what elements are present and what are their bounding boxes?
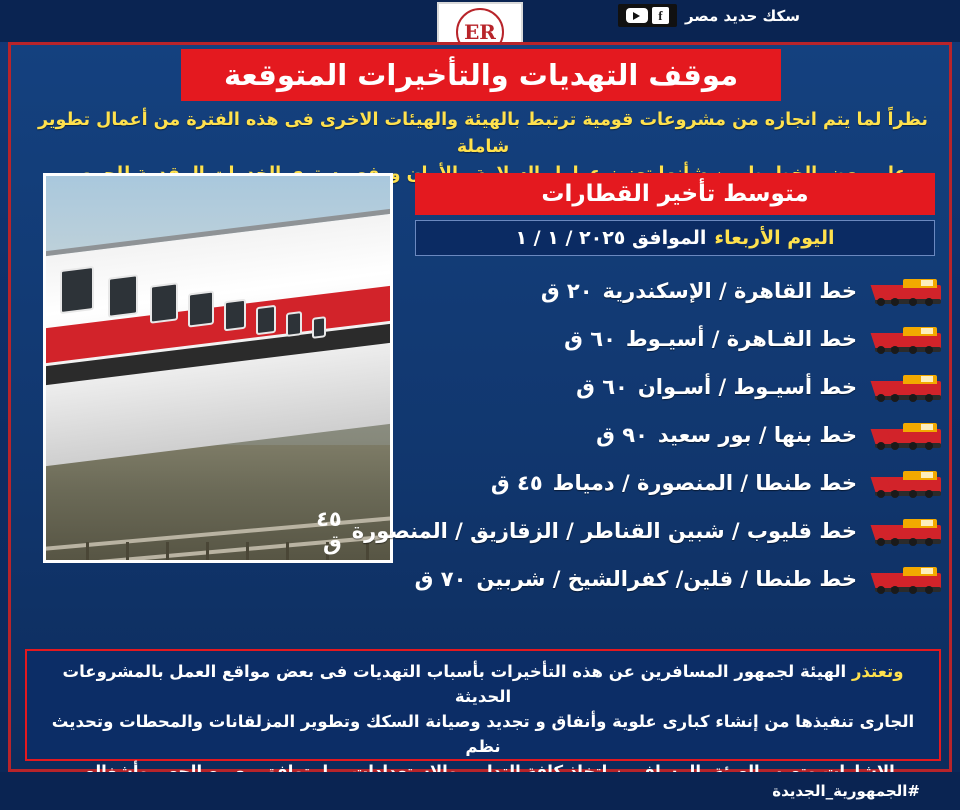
delay-line-row: خط قليوب / شبين القناطر / الزقازيق / الم… [407,507,943,555]
delay-line-name: خط أسيـوط / أسـوان [638,375,857,399]
delay-line-name: خط طنطا / قلين/ كفرالشيخ / شربين [476,567,857,591]
delay-line-name: خط القاهرة / الإسكندرية [603,279,857,303]
delay-line-value: ٧٠ ق [415,567,467,591]
train-photo [43,173,393,563]
date-band: اليوم الأربعاء الموافق ٢٠٢٥ / ١ / ١ [415,220,935,256]
date-value: الموافق ٢٠٢٥ / ١ / ١ [515,227,706,249]
locomotive-icon [867,516,941,546]
delay-line-row: خط أسيـوط / أسـوان٦٠ ق [407,363,943,411]
delay-line-value: ٤٥ ق [491,471,543,495]
delay-line-row: خط بنها / بور سعيد٩٠ ق [407,411,943,459]
note-line-1-rest: الهيئة لجمهور المسافرين عن هذه التأخيرات… [63,662,852,706]
note-line-1: وتعتذر الهيئة لجمهور المسافرين عن هذه ال… [41,659,925,709]
delay-line-row: خط طنطا / قلين/ كفرالشيخ / شربين٧٠ ق [407,555,943,603]
apology-note: وتعتذر الهيئة لجمهور المسافرين عن هذه ال… [25,649,941,761]
delay-line-row: خط القـاهرة / أسيـوط٦٠ ق [407,315,943,363]
delay-line-value: ٢٠ ق [541,279,593,303]
content-frame: موقف التهديات والتأخيرات المتوقعة نظراً … [8,42,952,772]
locomotive-icon [867,324,941,354]
footer-bar: #الجمهورية_الجديدة [0,772,960,810]
delay-line-value: ٤٥ ق [316,507,342,555]
brand-name: سكك حديد مصر [685,7,800,25]
footer-hashtag: #الجمهورية_الجديدة [772,782,920,800]
date-day: اليوم الأربعاء [714,227,834,249]
delay-line-row: خط القاهرة / الإسكندرية٢٠ ق [407,267,943,315]
delay-line-row: خط طنطا / المنصورة / دمياط٤٥ ق [407,459,943,507]
page-title: موقف التهديات والتأخيرات المتوقعة [224,58,738,92]
average-delay-label: متوسط تأخير القطارات [541,181,808,207]
youtube-icon[interactable] [626,8,648,23]
title-band: موقف التهديات والتأخيرات المتوقعة [181,49,781,101]
poster-root: سكك حديد مصر f ER EGYPTIAN RAILWAYS المر… [0,0,960,810]
delay-line-value: ٩٠ ق [596,423,648,447]
delay-line-name: خط القـاهرة / أسيـوط [626,327,857,351]
delay-line-value: ٦٠ ق [576,375,628,399]
locomotive-icon [867,372,941,402]
delay-lines-list: خط القاهرة / الإسكندرية٢٠ قخط القـاهرة /… [407,267,943,603]
delay-line-name: خط بنها / بور سعيد [658,423,857,447]
facebook-icon[interactable]: f [652,7,669,24]
average-delay-band: متوسط تأخير القطارات [415,173,935,215]
locomotive-icon [867,420,941,450]
locomotive-icon [867,564,941,594]
top-bar: سكك حديد مصر f ER EGYPTIAN RAILWAYS المر… [0,0,960,42]
delay-line-name: خط قليوب / شبين القناطر / الزقازيق / الم… [352,519,857,543]
delay-line-value: ٦٠ ق [564,327,616,351]
subtitle-line-1: نظراً لما يتم انجازه من مشروعات قومية تر… [25,107,941,161]
locomotive-icon [867,468,941,498]
delay-line-name: خط طنطا / المنصورة / دمياط [553,471,857,495]
social-icons-group: f [618,4,677,27]
note-line-2: الجارى تنفيذها من إنشاء كبارى علوية وأنف… [41,709,925,759]
note-highlight: وتعتذر [852,662,904,681]
top-bar-brand-group: سكك حديد مصر f [618,4,800,27]
locomotive-icon [867,276,941,306]
